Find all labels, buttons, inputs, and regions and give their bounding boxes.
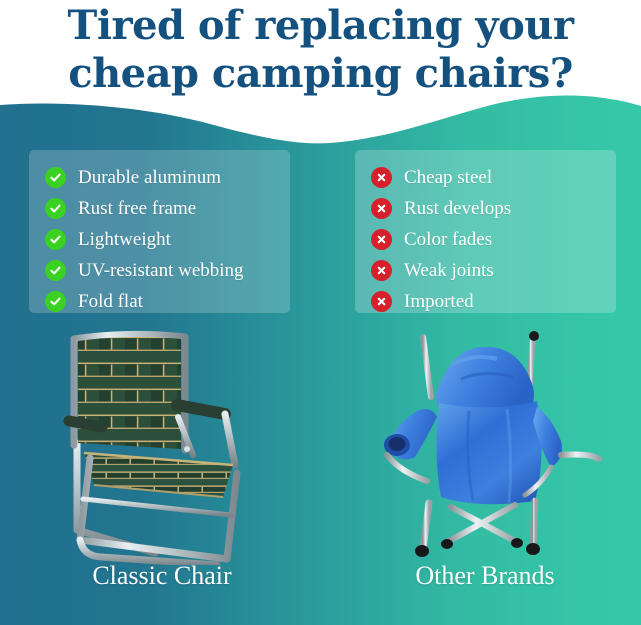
list-item: Durable aluminum (29, 162, 290, 193)
list-item: Cheap steel (355, 162, 616, 193)
list-item-label: Imported (404, 291, 474, 312)
list-item: Rust free frame (29, 193, 290, 224)
list-item: Fold flat (29, 286, 290, 317)
check-circle-icon (45, 167, 66, 188)
list-item: UV-resistant webbing (29, 255, 290, 286)
list-item-label: Fold flat (78, 291, 143, 312)
list-item-label: Rust develops (404, 198, 511, 219)
list-item: Weak joints (355, 255, 616, 286)
list-item-label: UV-resistant webbing (78, 260, 244, 281)
list-item-label: Weak joints (404, 260, 494, 281)
comparison-infographic: Tired of replacing your cheap camping ch… (0, 0, 641, 625)
x-circle-icon (371, 291, 392, 312)
product-other-brands: Other Brands (335, 325, 635, 625)
x-circle-icon (371, 229, 392, 250)
cons-panel: Cheap steel Rust develops Color fades We… (355, 150, 616, 313)
list-item-label: Color fades (404, 229, 492, 250)
list-item-label: Rust free frame (78, 198, 196, 219)
list-item: Rust develops (355, 193, 616, 224)
check-circle-icon (45, 291, 66, 312)
x-circle-icon (371, 260, 392, 281)
x-circle-icon (371, 198, 392, 219)
list-item-label: Durable aluminum (78, 167, 221, 188)
list-item: Color fades (355, 224, 616, 255)
list-item: Lightweight (29, 224, 290, 255)
list-item: Imported (355, 286, 616, 317)
aluminum-webbed-lawn-chair-photo (12, 325, 312, 565)
check-circle-icon (45, 260, 66, 281)
check-circle-icon (45, 198, 66, 219)
blue-fabric-folding-camp-chair-photo (335, 325, 635, 565)
product-classic-chair: Classic Chair (12, 325, 312, 625)
check-circle-icon (45, 229, 66, 250)
page-title-line-1: Tired of replacing your (18, 2, 623, 50)
product-comparison: Classic Chair (0, 325, 641, 625)
product-caption: Classic Chair (12, 561, 312, 591)
pros-panel: Durable aluminum Rust free frame Lightwe… (29, 150, 290, 313)
product-caption: Other Brands (335, 561, 635, 591)
list-item-label: Cheap steel (404, 167, 492, 188)
x-circle-icon (371, 167, 392, 188)
page-title-line-2: cheap camping chairs? (18, 50, 623, 98)
list-item-label: Lightweight (78, 229, 171, 250)
page-title: Tired of replacing your cheap camping ch… (0, 2, 641, 98)
